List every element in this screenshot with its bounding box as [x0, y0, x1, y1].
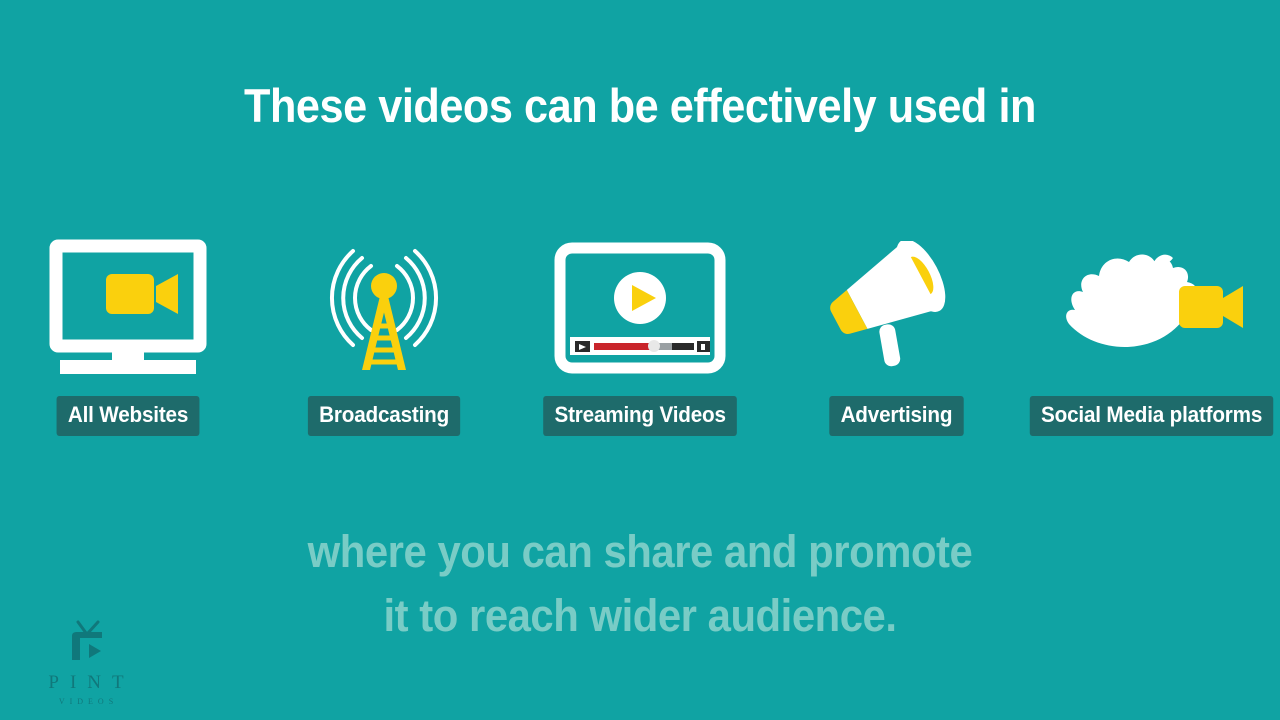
broadcast-tower-icon	[314, 238, 454, 378]
megaphone-icon	[821, 238, 971, 378]
platform-label[interactable]: Streaming Videos	[543, 396, 737, 436]
platform-item-social-media[interactable]: Social Media platforms	[1024, 238, 1280, 436]
platform-list: All Websites	[0, 238, 1280, 438]
platform-item-streaming-videos[interactable]: Streaming Videos	[512, 238, 768, 436]
platform-item-all-websites[interactable]: All Websites	[0, 238, 256, 436]
twitter-bird-video-icon	[1057, 238, 1247, 378]
tv-play-logo-icon	[26, 618, 146, 670]
video-player-icon	[554, 238, 726, 378]
platform-label[interactable]: Broadcasting	[308, 396, 460, 436]
page-title: These videos can be effectively used in	[51, 78, 1229, 133]
logo-wordmark: PINT	[26, 672, 146, 694]
slide-canvas: These videos can be effectively used in …	[0, 0, 1280, 720]
platform-item-broadcasting[interactable]: Broadcasting	[256, 238, 512, 436]
subtitle-line-2: it to reach wider audience.	[45, 584, 1235, 648]
subtitle: where you can share and promote it to re…	[45, 520, 1235, 648]
brand-logo: PINT VIDEOS	[26, 618, 146, 706]
logo-tagline: VIDEOS	[26, 697, 146, 706]
monitor-video-icon	[48, 238, 208, 378]
platform-label[interactable]: All Websites	[57, 396, 200, 436]
platform-label[interactable]: Advertising	[829, 396, 963, 436]
subtitle-line-1: where you can share and promote	[45, 520, 1235, 584]
platform-item-advertising[interactable]: Advertising	[768, 238, 1024, 436]
platform-label[interactable]: Social Media platforms	[1030, 396, 1274, 436]
